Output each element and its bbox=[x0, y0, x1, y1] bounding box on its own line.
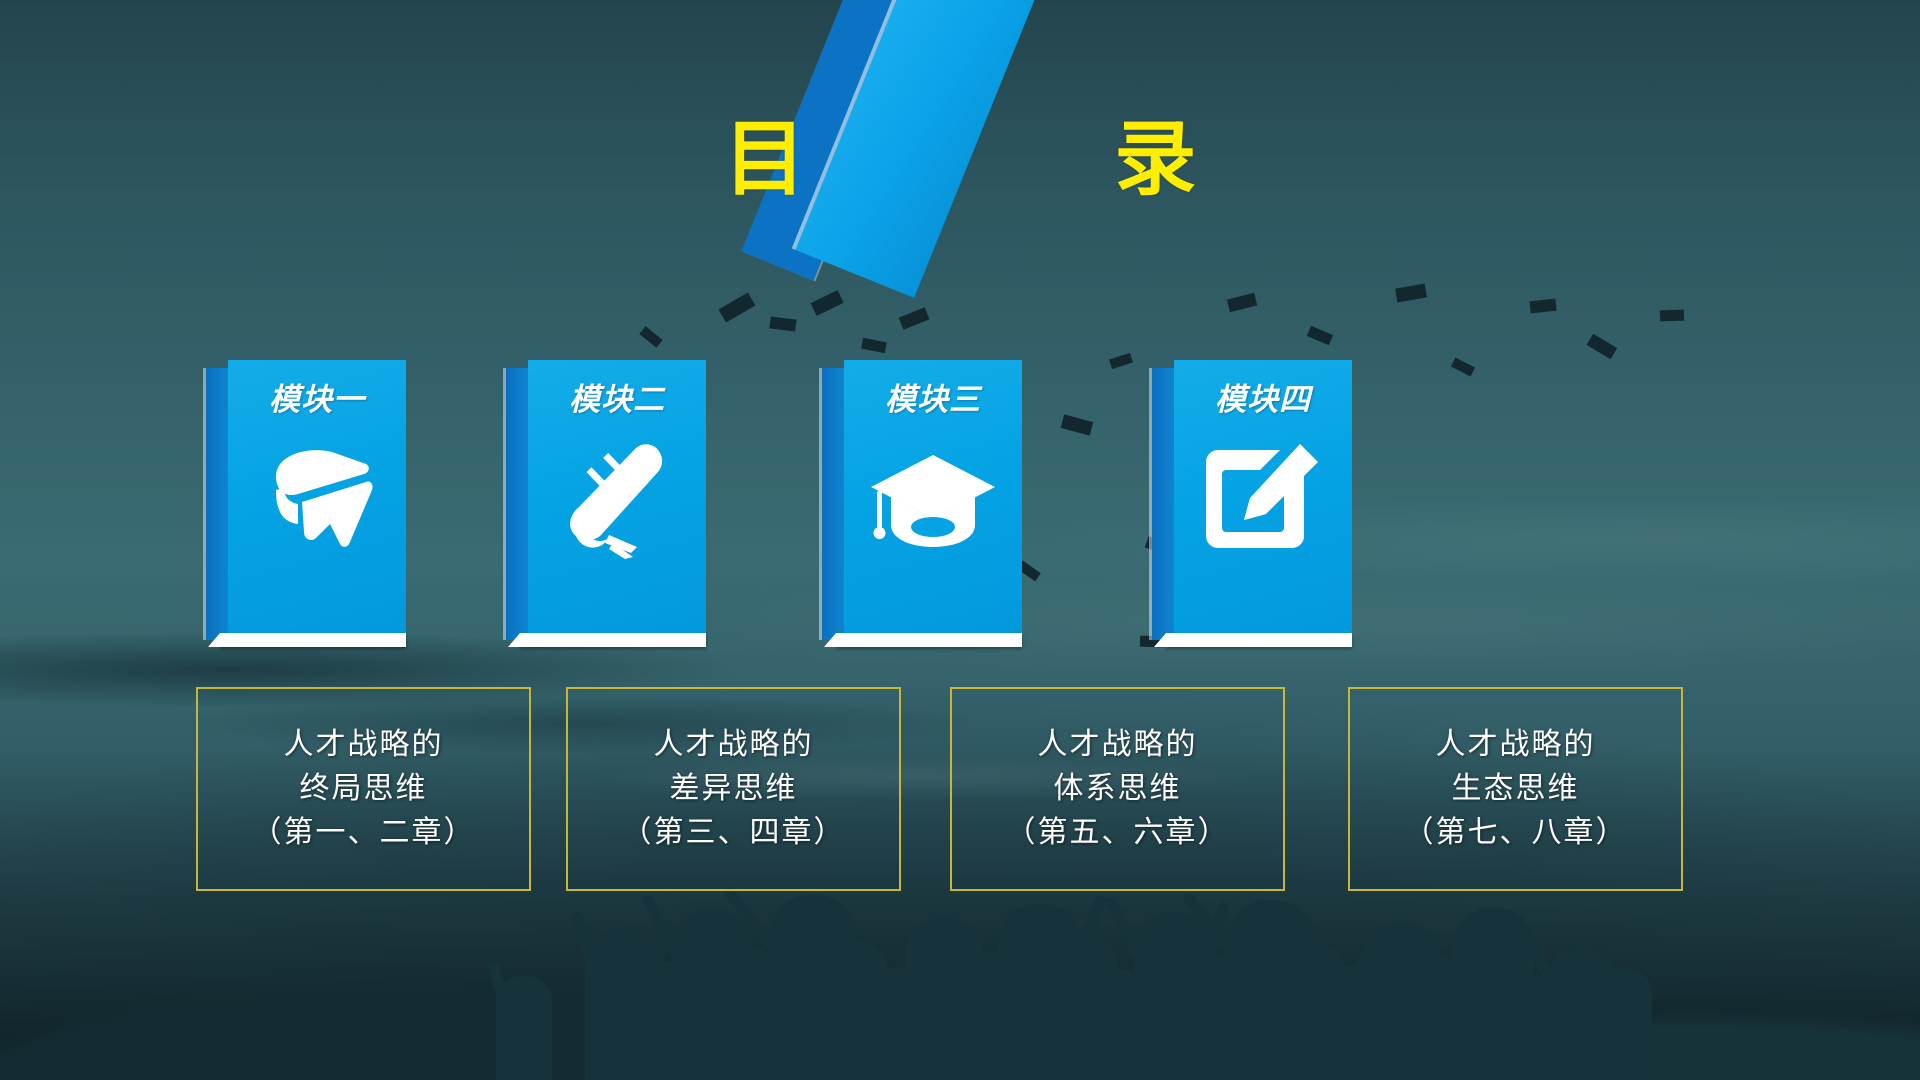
page-title: 目 录 bbox=[0, 118, 1920, 200]
caption-line: （第五、六章） bbox=[1006, 818, 1230, 848]
caption-line: （第一、二章） bbox=[252, 818, 476, 848]
module-caption-box-1[interactable]: 人才战略的终局思维（第一、二章） bbox=[196, 687, 531, 891]
module-caption-box-2[interactable]: 人才战略的差异思维（第三、四章） bbox=[566, 687, 901, 891]
caption-line: 人才战略的 bbox=[1436, 730, 1596, 760]
module-caption-box-3[interactable]: 人才战略的体系思维（第五、六章） bbox=[950, 687, 1285, 891]
caption-line: （第七、八章） bbox=[1404, 818, 1628, 848]
caption-line: （第三、四章） bbox=[622, 818, 846, 848]
caption-line: 人才战略的 bbox=[654, 730, 814, 760]
caption-line: 终局思维 bbox=[300, 774, 428, 804]
caption-line: 人才战略的 bbox=[284, 730, 444, 760]
module-caption-box-4[interactable]: 人才战略的生态思维（第七、八章） bbox=[1348, 687, 1683, 891]
caption-line: 体系思维 bbox=[1054, 774, 1182, 804]
caption-line: 人才战略的 bbox=[1038, 730, 1198, 760]
caption-line: 差异思维 bbox=[670, 774, 798, 804]
slide-canvas: 目 录 模块一 模块二 bbox=[0, 0, 1920, 1080]
caption-line: 生态思维 bbox=[1452, 774, 1580, 804]
